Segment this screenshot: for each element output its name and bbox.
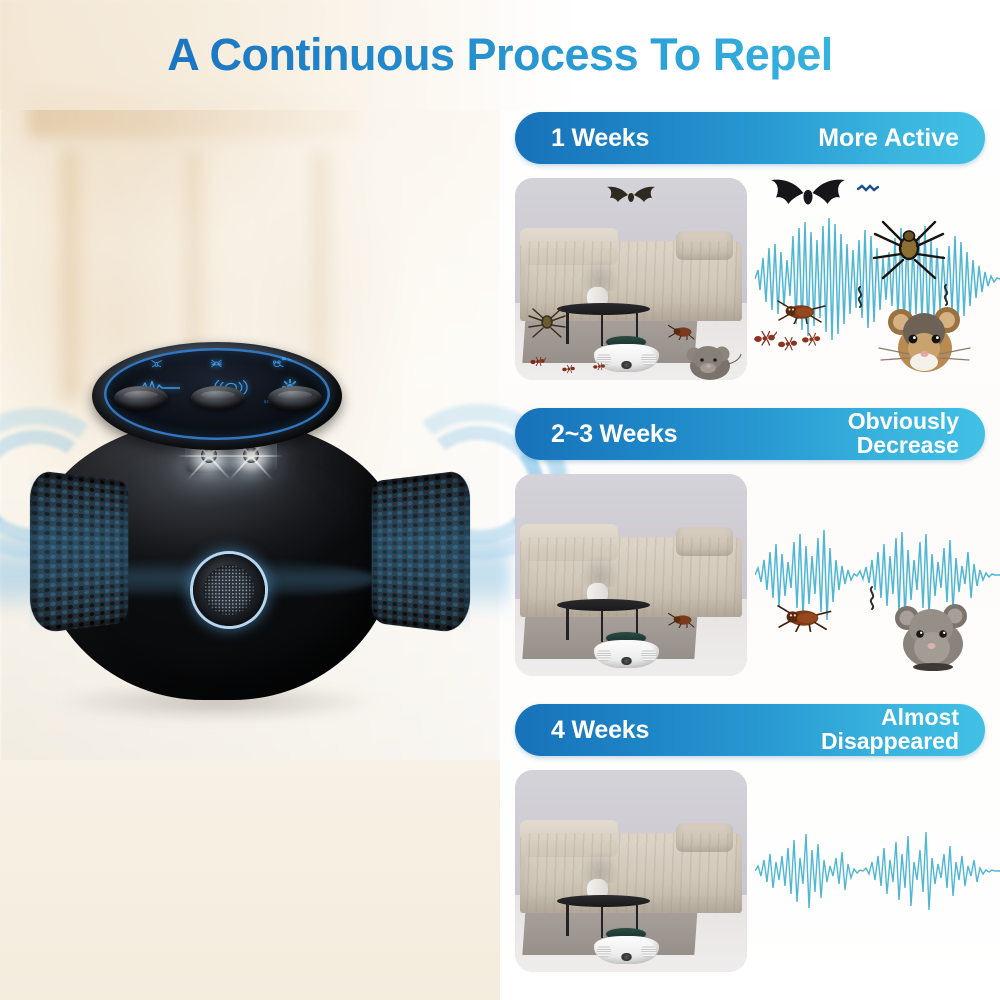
mini-device xyxy=(594,928,659,964)
ultrasonic-emitter xyxy=(193,554,265,626)
room-scene-week-1 xyxy=(515,178,747,380)
product-hero-image: Control Panel xyxy=(0,300,500,770)
page-title: A Continuous Process To Repel xyxy=(0,24,1000,86)
status-label: Obviously Decrease xyxy=(848,410,959,458)
floor-surface xyxy=(0,760,500,1000)
spider-icon xyxy=(867,214,951,286)
signal-squiggle-icon xyxy=(857,184,879,192)
waveform-week-4 xyxy=(755,770,1000,972)
ant-icon xyxy=(529,356,546,367)
rat-icon xyxy=(881,594,985,672)
ant-icon xyxy=(801,332,822,346)
room-scene-week-2-3 xyxy=(515,474,747,676)
status-label: Almost Disappeared xyxy=(821,706,959,754)
mode-icon-row xyxy=(104,359,330,368)
weeks-label: 4 Weeks xyxy=(551,716,649,745)
bat-icon xyxy=(765,174,851,224)
cockroach-icon xyxy=(777,602,835,632)
ant-icon xyxy=(753,330,777,346)
cockroach-icon xyxy=(777,298,829,324)
light-button[interactable] xyxy=(268,386,322,410)
mini-device xyxy=(594,632,659,668)
weeks-label: 2~3 Weeks xyxy=(551,420,677,449)
right-speaker-grille xyxy=(372,470,470,635)
waveform-week-1 xyxy=(755,178,1000,380)
sound-button[interactable] xyxy=(191,386,245,410)
signal-squiggle-icon xyxy=(941,284,951,306)
ultrasonic-button[interactable] xyxy=(114,386,168,410)
ant-icon xyxy=(561,364,576,374)
weeks-label: 1 Weeks xyxy=(551,124,649,153)
status-label: More Active xyxy=(818,125,959,151)
rat-icon xyxy=(682,336,742,380)
timeline-row-week-4: 4 Weeks Almost Disappeared xyxy=(500,704,1000,990)
signal-squiggle-icon xyxy=(855,286,865,308)
signal-squiggle-icon xyxy=(867,586,877,610)
control-button-row[interactable] xyxy=(114,386,322,410)
spider-icon xyxy=(524,303,570,343)
cockroach-icon xyxy=(668,611,702,628)
timeline-rows: 1 Weeks More Active xyxy=(500,0,1000,1000)
timeline-pill-week-4: 4 Weeks Almost Disappeared xyxy=(515,704,985,756)
ant-icon xyxy=(777,336,799,351)
mosquito-icon xyxy=(150,359,163,368)
ant-icon xyxy=(592,362,606,371)
timeline-pill-week-2-3: 2~3 Weeks Obviously Decrease xyxy=(515,408,985,460)
timeline-pill-week-1: 1 Weeks More Active xyxy=(515,112,985,164)
room-scene-week-4 xyxy=(515,770,747,972)
bat-icon xyxy=(603,184,659,216)
waveform-week-2-3 xyxy=(755,474,1000,676)
spider-icon xyxy=(210,359,223,368)
mouse-icon xyxy=(271,359,284,368)
timeline-row-week-1: 1 Weeks More Active xyxy=(500,112,1000,402)
mouse-icon xyxy=(873,296,977,378)
timeline-row-week-2-3: 2~3 Weeks Obviously Decrease xyxy=(500,408,1000,698)
left-speaker-grille xyxy=(30,470,128,635)
